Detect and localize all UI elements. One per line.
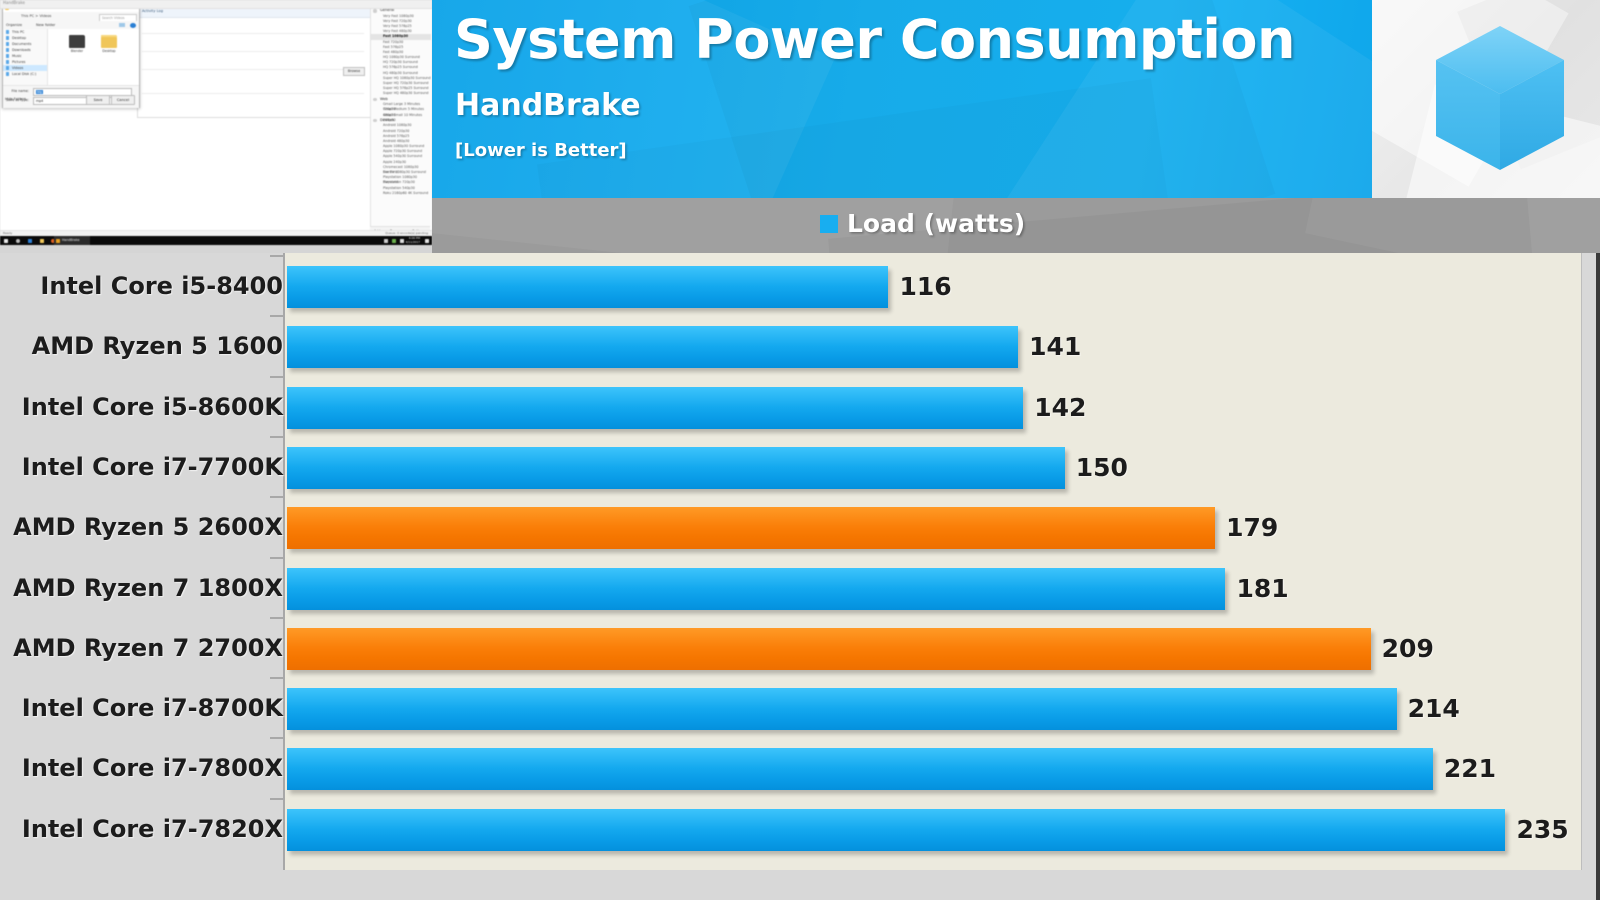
category-label: AMD Ryzen 5 2600X — [13, 513, 283, 541]
tree-item-label: Local Disk (C:) — [12, 72, 36, 76]
category-label: Intel Core i7-7820X — [22, 815, 283, 843]
bar — [287, 507, 1215, 549]
tree-item-local-disk[interactable]: Local Disk (C:) — [3, 71, 47, 77]
view-mode-icon[interactable] — [119, 23, 125, 27]
collapse-icon[interactable] — [373, 9, 377, 13]
bar-value-label: 150 — [1076, 453, 1128, 482]
bar-value-label: 142 — [1034, 393, 1086, 422]
bar — [287, 568, 1225, 610]
navigation-tree[interactable]: This PC Desktop Documents Downloads Musi… — [3, 29, 48, 85]
tree-item-label: This PC — [12, 30, 24, 34]
preset-group-label: Devices — [380, 118, 394, 122]
page-title: System Power Consumption — [454, 8, 1295, 71]
axis-tick — [270, 557, 283, 559]
bar — [287, 748, 1433, 790]
legend-band: Load (watts) — [432, 198, 1600, 253]
browse-button[interactable]: Browse — [343, 67, 365, 76]
save-as-dialog[interactable]: Save As ✕ This PC > Videos Search Videos… — [2, 2, 140, 108]
tree-item-label: Videos — [12, 66, 23, 70]
bar — [287, 387, 1023, 429]
window-topbar: HandBrake — [0, 0, 432, 9]
windows-taskbar[interactable]: HandBrake 4:06 PM 4/11/2017 — [0, 236, 432, 245]
file-name-label: File name: — [3, 88, 29, 95]
music-icon — [6, 54, 9, 57]
file-item-label: Blender — [64, 49, 90, 53]
bar — [287, 688, 1397, 730]
new-folder-button[interactable]: New folder — [36, 23, 55, 27]
folder-open-icon — [69, 35, 85, 48]
category-label: Intel Core i7-8700K — [22, 694, 283, 722]
category-axis — [283, 253, 285, 870]
category-label: AMD Ryzen 7 2700X — [13, 634, 283, 662]
taskbar-app-label: HandBrake — [62, 238, 80, 242]
organize-button[interactable]: Organize — [6, 23, 22, 27]
documents-icon — [6, 42, 9, 45]
file-item-label: Desktop — [96, 49, 122, 53]
volume-icon[interactable] — [400, 239, 404, 243]
axis-tick — [270, 798, 283, 800]
help-icon[interactable] — [130, 23, 136, 28]
tree-item-label: Downloads — [12, 48, 31, 52]
bar-chart: Intel Core i5-8400116AMD Ryzen 5 1600141… — [0, 253, 1600, 900]
desktop-screenshot: Activity Log Browse General Very Fast 10… — [0, 0, 432, 253]
tray-icon[interactable] — [392, 239, 396, 243]
axis-tick — [270, 617, 283, 619]
status-text: Ready — [3, 231, 12, 235]
handbrake-window-title: Activity Log — [142, 9, 163, 13]
category-label: AMD Ryzen 5 1600 — [32, 332, 283, 360]
divider — [142, 93, 364, 94]
cube-icon — [1372, 0, 1600, 198]
category-label: Intel Core i7-7800X — [22, 754, 283, 782]
category-label: Intel Core i7-7700K — [22, 453, 283, 481]
top-strip: Activity Log Browse General Very Fast 10… — [0, 0, 1600, 253]
handbrake-icon — [56, 239, 60, 243]
preset-group-label: Web — [380, 97, 388, 101]
page-note: [Lower is Better] — [455, 140, 627, 161]
chart-legend: Load (watts) — [820, 209, 1025, 238]
tree-item-label: Desktop — [12, 36, 26, 40]
banner: System Power Consumption HandBrake [Lowe… — [432, 0, 1372, 198]
bar — [287, 266, 888, 308]
legend-swatch-icon — [820, 215, 838, 233]
category-label: Intel Core i5-8400 — [40, 272, 283, 300]
axis-tick — [270, 376, 283, 378]
divider — [142, 51, 364, 52]
folder-icon — [101, 35, 117, 48]
bar-value-label: 116 — [899, 272, 951, 301]
breadcrumb[interactable]: This PC > Videos — [21, 14, 51, 18]
bar — [287, 326, 1018, 368]
window-topbar-label: HandBrake — [3, 0, 25, 5]
bar-value-label: 209 — [1382, 634, 1434, 663]
collapse-icon[interactable] — [373, 119, 377, 123]
category-label: AMD Ryzen 7 1800X — [13, 574, 283, 602]
desktop-bottom-padding — [0, 245, 432, 253]
legend-label: Load (watts) — [847, 209, 1025, 238]
desktop-icon — [6, 36, 9, 39]
downloads-icon — [6, 48, 9, 51]
tree-item-label: Music — [12, 54, 22, 58]
windows-icon[interactable] — [4, 239, 8, 243]
axis-tick — [270, 255, 283, 257]
preset-group[interactable]: Devices — [371, 118, 431, 124]
axis-tick — [270, 677, 283, 679]
explorer-icon[interactable] — [40, 239, 44, 243]
logo-panel — [1372, 0, 1600, 198]
preset-group[interactable]: Web — [371, 97, 431, 103]
videos-icon — [6, 66, 9, 69]
bar — [287, 447, 1065, 489]
taskbar-clock[interactable]: 4:06 PM 4/11/2017 — [406, 237, 420, 244]
search-icon[interactable] — [16, 239, 20, 243]
pictures-icon — [6, 60, 9, 63]
axis-tick — [270, 436, 283, 438]
bar-value-label: 179 — [1226, 513, 1278, 542]
bar — [287, 809, 1505, 851]
bar-value-label: 221 — [1444, 754, 1496, 783]
page-subtitle: HandBrake — [455, 88, 641, 123]
chart-right-border — [1596, 253, 1600, 900]
clock-date: 4/11/2017 — [406, 241, 420, 245]
tray-icon[interactable] — [384, 239, 388, 243]
file-name-row: File name: big — [3, 88, 139, 95]
divider — [142, 33, 364, 34]
preset-item[interactable]: Roku 2160p60 4K Surround — [371, 191, 431, 196]
file-item[interactable]: Blender — [64, 35, 90, 53]
collapse-icon[interactable] — [373, 98, 377, 102]
axis-tick — [270, 315, 283, 317]
queue-status-text: Queue: 0 encode(s) pending — [385, 231, 428, 235]
pc-icon — [6, 30, 9, 33]
bar — [287, 628, 1371, 670]
file-list[interactable]: Blender Desktop — [48, 29, 139, 85]
bar-value-label: 141 — [1029, 332, 1081, 361]
save-button[interactable]: Save — [86, 95, 110, 105]
hide-folders-button[interactable]: Hide Folders — [5, 97, 26, 101]
tree-item-label: Pictures — [12, 60, 25, 64]
bar-value-label: 235 — [1516, 815, 1568, 844]
bar-value-label: 181 — [1236, 574, 1288, 603]
tree-item-label: Documents — [12, 42, 31, 46]
notifications-icon[interactable] — [425, 239, 429, 243]
disk-icon — [6, 72, 9, 75]
edge-icon[interactable] — [28, 239, 32, 243]
cancel-button[interactable]: Cancel — [111, 95, 135, 105]
handbrake-preset-panel[interactable]: General Very Fast 1080p30 Very Fast 720p… — [370, 8, 431, 230]
axis-tick — [270, 737, 283, 739]
file-item[interactable]: Desktop — [96, 35, 122, 53]
divider — [142, 69, 364, 70]
category-label: Intel Core i5-8600K — [22, 393, 283, 421]
handbrake-window[interactable]: Activity Log Browse — [137, 6, 371, 118]
axis-tick — [270, 496, 283, 498]
bar-value-label: 214 — [1408, 694, 1460, 723]
